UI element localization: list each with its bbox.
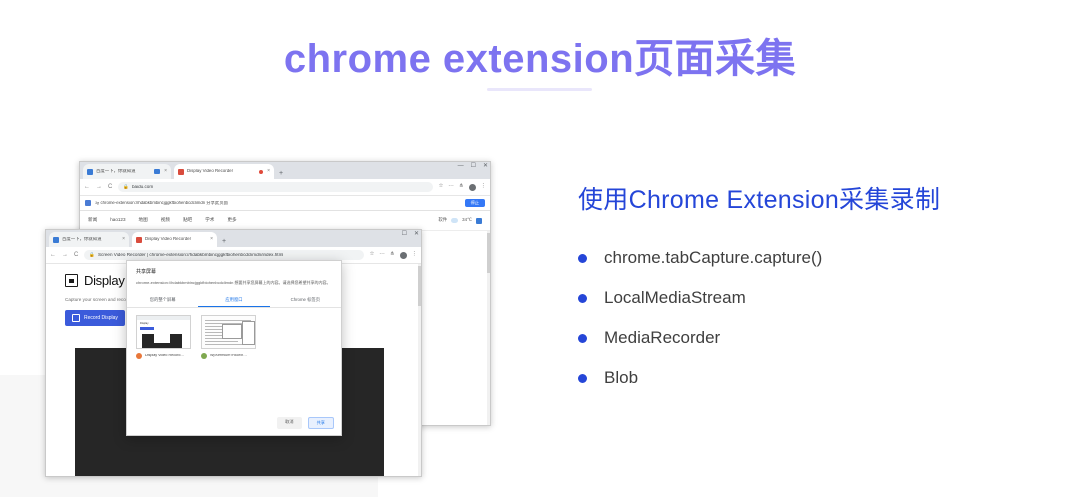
list-item: Blob [578, 358, 1048, 398]
stop-sharing-button[interactable]: 停止 [465, 199, 485, 207]
maximize-icon[interactable]: ☐ [471, 163, 476, 169]
list-item: MediaRecorder [578, 318, 1048, 358]
tab-close-icon[interactable]: × [210, 237, 213, 242]
recorder-heading: Display [84, 273, 125, 288]
front-toolbar-icons[interactable]: ☆ ⋯ ⋔ ⋮ [369, 252, 417, 259]
back-tab-baidu[interactable]: 百度一下，你就知道 × [83, 164, 171, 179]
tab-title: Display Video Recorder [145, 237, 208, 241]
baidu-nav-news[interactable]: 新闻 [88, 218, 97, 223]
back-window-controls[interactable]: — ☐ ✕ [458, 163, 488, 169]
page-title: chrome extension页面采集 [0, 26, 1080, 84]
baidu-temperature: 34℃ [462, 218, 472, 222]
record-display-button[interactable]: Record Display [65, 310, 125, 326]
back-page-scrollbar[interactable] [487, 231, 490, 425]
front-page-scrollbar[interactable] [418, 264, 421, 476]
recorder-favicon [136, 237, 142, 243]
back-toolbar-icons[interactable]: ☆ ⋯ ⋔ ⋮ [438, 184, 486, 191]
maximize-icon[interactable]: ☐ [402, 231, 407, 237]
menu-icon[interactable]: ⋮ [481, 184, 487, 190]
list-item: LocalMediaStream [578, 278, 1048, 318]
thumbnail-label: WpXermium?Rkor\n… [210, 354, 247, 358]
bullet-dot-icon [578, 254, 587, 263]
dialog-footer[interactable]: 取消 共享 [277, 417, 334, 429]
recorder-favicon [178, 169, 184, 175]
list-item-label: MediaRecorder [604, 328, 720, 348]
share-button[interactable]: 共享 [308, 417, 334, 429]
back-tab-recorder[interactable]: Display Video Recorder × [174, 164, 274, 179]
menu-icon[interactable]: ⋮ [412, 252, 418, 258]
baidu-favicon [87, 169, 93, 175]
chrome-icon [136, 353, 142, 359]
screen-share-infobar: 与 chrome-extension://hdabkbmbincjggkfbio… [80, 196, 490, 211]
tab-application-window[interactable]: 应用窗口 [198, 294, 269, 307]
close-window-icon[interactable]: ✕ [414, 231, 419, 237]
mini-line [205, 344, 246, 345]
tab-close-icon[interactable]: × [164, 169, 167, 174]
thumbnail-other-app[interactable]: WpXermium?Rkor\n… [201, 315, 256, 359]
dialog-title: 共享屏幕 [127, 261, 341, 275]
tab-entire-screen[interactable]: 您的整个屏幕 [127, 294, 198, 307]
front-tab-recorder[interactable]: Display Video Recorder × [132, 232, 217, 247]
back-arrow-icon[interactable]: ← [84, 184, 90, 190]
bullet-dot-icon [578, 334, 587, 343]
list-item-label: chrome.tabCapture.capture() [604, 248, 822, 268]
share-icon[interactable]: ⋔ [459, 184, 464, 190]
source-thumbnail-list[interactable]: Display Display Video Record… [127, 308, 341, 359]
extension-lock-icon: 🔒 [89, 252, 95, 258]
extension-icon[interactable]: ⋯ [379, 252, 385, 258]
reload-icon[interactable]: C [108, 184, 112, 190]
baidu-top-nav[interactable]: 新闻 hao123 地图 视频 贴吧 学术 更多 软件 34℃ [80, 211, 490, 231]
mini-ide-preview [202, 316, 255, 348]
thumbnail-preview: Display [136, 315, 191, 349]
tab-title: 百度一下，你就知道 [62, 237, 120, 241]
tab-chrome-tab[interactable]: Chrome 标签页 [270, 294, 341, 307]
baidu-nav-tieba[interactable]: 贴吧 [183, 218, 192, 223]
new-tab-button[interactable]: + [279, 170, 283, 177]
avatar[interactable] [400, 252, 407, 259]
list-item-label: LocalMediaStream [604, 288, 746, 308]
infobar-text: 与 chrome-extension://hdabkbmbincjggkfbio… [95, 201, 460, 205]
extension-icon[interactable]: ⋯ [448, 184, 454, 190]
bullet-dot-icon [578, 374, 587, 383]
screen-share-dialog[interactable]: 共享屏幕 chrome-extension://hdabkbmbincjggkf… [126, 260, 342, 436]
list-item: chrome.tabCapture.capture() [578, 238, 1048, 278]
avatar[interactable] [469, 184, 476, 191]
bookmark-star-icon[interactable]: ☆ [438, 184, 443, 190]
baidu-app-icon[interactable] [476, 218, 482, 224]
new-tab-button[interactable]: + [222, 238, 226, 245]
tab-title: 百度一下，你就知道 [96, 169, 152, 173]
right-content-panel: 使用Chrome Extension采集录制 chrome.tabCapture… [578, 180, 1048, 398]
forward-arrow-icon[interactable]: → [96, 184, 102, 190]
close-window-icon[interactable]: ✕ [483, 163, 488, 169]
mini-record-button [140, 327, 154, 330]
thumbnail-preview [201, 315, 256, 349]
list-item-label: Blob [604, 368, 638, 388]
back-address-bar[interactable]: 🔒 baidu.com [118, 182, 433, 192]
dialog-source-tabs[interactable]: 您的整个屏幕 应用窗口 Chrome 标签页 [127, 294, 341, 308]
tab-close-icon[interactable]: × [122, 237, 125, 242]
mini-panel [222, 324, 242, 339]
back-toolbar[interactable]: ← → C 🔒 baidu.com ☆ ⋯ ⋔ ⋮ [80, 179, 490, 196]
baidu-nav-video[interactable]: 视频 [161, 218, 170, 223]
baidu-nav-map[interactable]: 地图 [139, 218, 148, 223]
record-icon [72, 314, 80, 322]
front-tabstrip[interactable]: 百度一下，你就知道 × Display Video Recorder × + ☐… [46, 230, 421, 247]
bullet-dot-icon [578, 294, 587, 303]
tab-title: Display Video Recorder [187, 169, 257, 173]
recording-indicator-icon [259, 170, 263, 174]
section-heading: 使用Chrome Extension采集录制 [578, 180, 1048, 216]
minimize-icon[interactable]: — [458, 163, 464, 169]
thumbnail-caption: Display Video Record… [136, 353, 191, 359]
forward-arrow-icon[interactable]: → [62, 252, 68, 258]
weather-cloud-icon [451, 218, 458, 223]
reload-icon[interactable]: C [74, 252, 78, 258]
front-tab-baidu[interactable]: 百度一下，你就知道 × [49, 232, 129, 247]
mini-dialog [154, 334, 170, 343]
record-button-label: Record Display [84, 315, 118, 321]
address-bar-url: baidu.com [132, 185, 153, 190]
api-list: chrome.tabCapture.capture() LocalMediaSt… [578, 238, 1048, 398]
baidu-favicon [53, 237, 59, 243]
baidu-software-label[interactable]: 软件 [438, 218, 447, 222]
baidu-nav-academic[interactable]: 学术 [205, 218, 214, 223]
baidu-nav-more[interactable]: 更多 [227, 218, 236, 223]
mini-line [205, 341, 238, 342]
address-bar-url: Screen Video Recorder | chrome-extension… [98, 253, 283, 258]
front-address-bar[interactable]: 🔒 Screen Video Recorder | chrome-extensi… [84, 250, 364, 260]
thumbnail-caption: WpXermium?Rkor\n… [201, 353, 256, 359]
lock-icon: 🔒 [123, 184, 129, 190]
thumbnail-recorder[interactable]: Display Display Video Record… [136, 315, 191, 359]
front-window-controls[interactable]: ☐ ✕ [402, 231, 419, 237]
dialog-description: chrome-extension://hdabkbmbincjggkfbiohe… [127, 275, 341, 286]
mini-heading: Display [137, 320, 190, 325]
thumbnail-label: Display Video Record… [145, 354, 184, 358]
mini-panel [242, 321, 255, 345]
back-tabstrip[interactable]: 百度一下，你就知道 × Display Video Recorder × + —… [80, 162, 490, 179]
back-arrow-icon[interactable]: ← [50, 252, 56, 258]
baidu-nav-hao123[interactable]: hao123 [110, 218, 125, 223]
app-icon [201, 353, 207, 359]
title-underline [487, 88, 592, 91]
cancel-button[interactable]: 取消 [277, 417, 301, 429]
recording-indicator-icon [154, 169, 160, 174]
screenshare-icon [85, 200, 91, 206]
baidu-nav-right[interactable]: 软件 34℃ [438, 218, 482, 224]
tab-close-icon[interactable]: × [267, 169, 270, 174]
bookmark-star-icon[interactable]: ☆ [369, 252, 374, 258]
share-icon[interactable]: ⋔ [390, 252, 395, 258]
display-logo-icon [65, 274, 78, 287]
